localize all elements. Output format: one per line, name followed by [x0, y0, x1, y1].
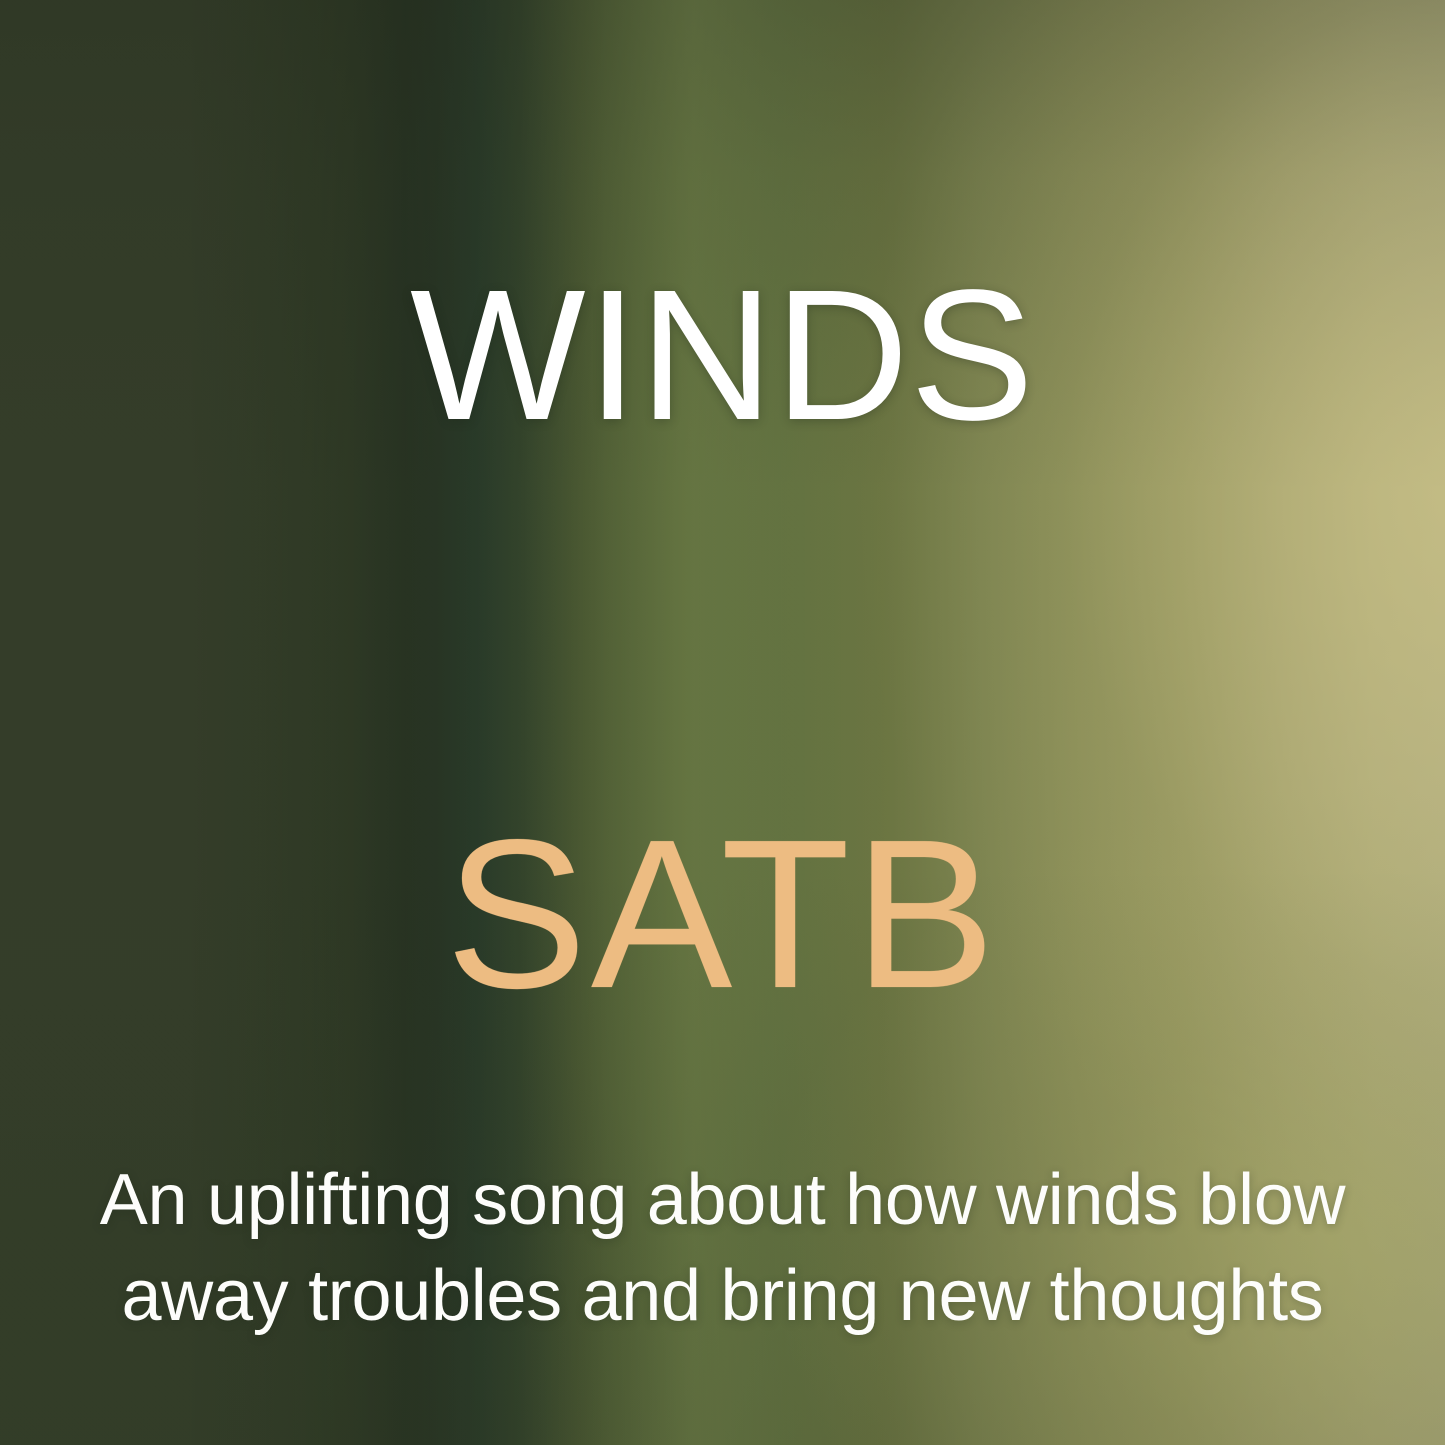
- album-cover: WINDS SATB An uplifting song about how w…: [0, 0, 1445, 1445]
- cover-description: An uplifting song about how winds blow a…: [10, 1152, 1435, 1344]
- cover-voicing-label: SATB: [0, 808, 1445, 1020]
- cover-title: WINDS: [0, 263, 1445, 449]
